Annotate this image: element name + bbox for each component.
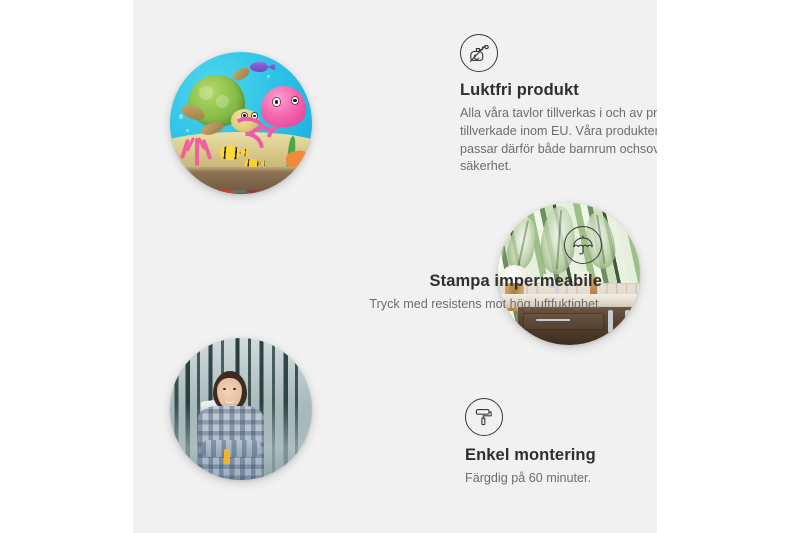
hand-tool-icon	[224, 449, 230, 465]
feature-title: Enkel montering	[465, 446, 657, 466]
feature-mounting: Enkel montering Färgdig på 60 minuter.	[465, 398, 657, 488]
bubble-icon	[179, 114, 184, 119]
framed-picture-strip	[170, 167, 312, 194]
feature-waterproof: Stampa impermeabile Tryck med resistens …	[347, 226, 602, 314]
feature-odorless: Luktfri produkt Alla våra tavlor tillver…	[460, 34, 657, 176]
feature-description: Tryck med resistens mot hög luftfuktighe…	[347, 296, 602, 314]
octopus-icon	[261, 86, 306, 127]
features-panel: Luktfri produkt Alla våra tavlor tillver…	[133, 0, 657, 533]
framed-picture-art	[196, 190, 298, 194]
cabinet-handle	[608, 310, 613, 333]
cabinet-handle	[625, 310, 630, 333]
bubble-icon	[267, 75, 270, 78]
person-eye	[223, 388, 226, 390]
fish-icon	[250, 62, 268, 72]
fish-icon	[220, 146, 240, 160]
paint-roller-icon	[465, 398, 503, 436]
feature-description: Alla våra tavlor tillverkas i och av pro…	[460, 105, 657, 177]
feature-title: Stampa impermeabile	[347, 272, 602, 292]
person-folded-arms	[201, 440, 261, 457]
feature-title: Luktfri produkt	[460, 81, 657, 101]
no-odor-spray-bottle-icon	[460, 34, 498, 72]
drawer-front	[523, 313, 604, 330]
feature-description: Färgdig på 60 minuter.	[465, 470, 657, 488]
umbrella-icon	[564, 226, 602, 264]
underwater-kids-scene-photo	[170, 52, 312, 194]
woman-paint-roller-forest-photo	[170, 338, 312, 480]
drawer-handle	[536, 319, 570, 321]
framed-picture-tag	[292, 191, 306, 194]
octopus-eye	[272, 97, 281, 106]
product-features-page: Luktfri produkt Alla våra tavlor tillver…	[0, 0, 800, 533]
person-smile	[225, 398, 234, 403]
